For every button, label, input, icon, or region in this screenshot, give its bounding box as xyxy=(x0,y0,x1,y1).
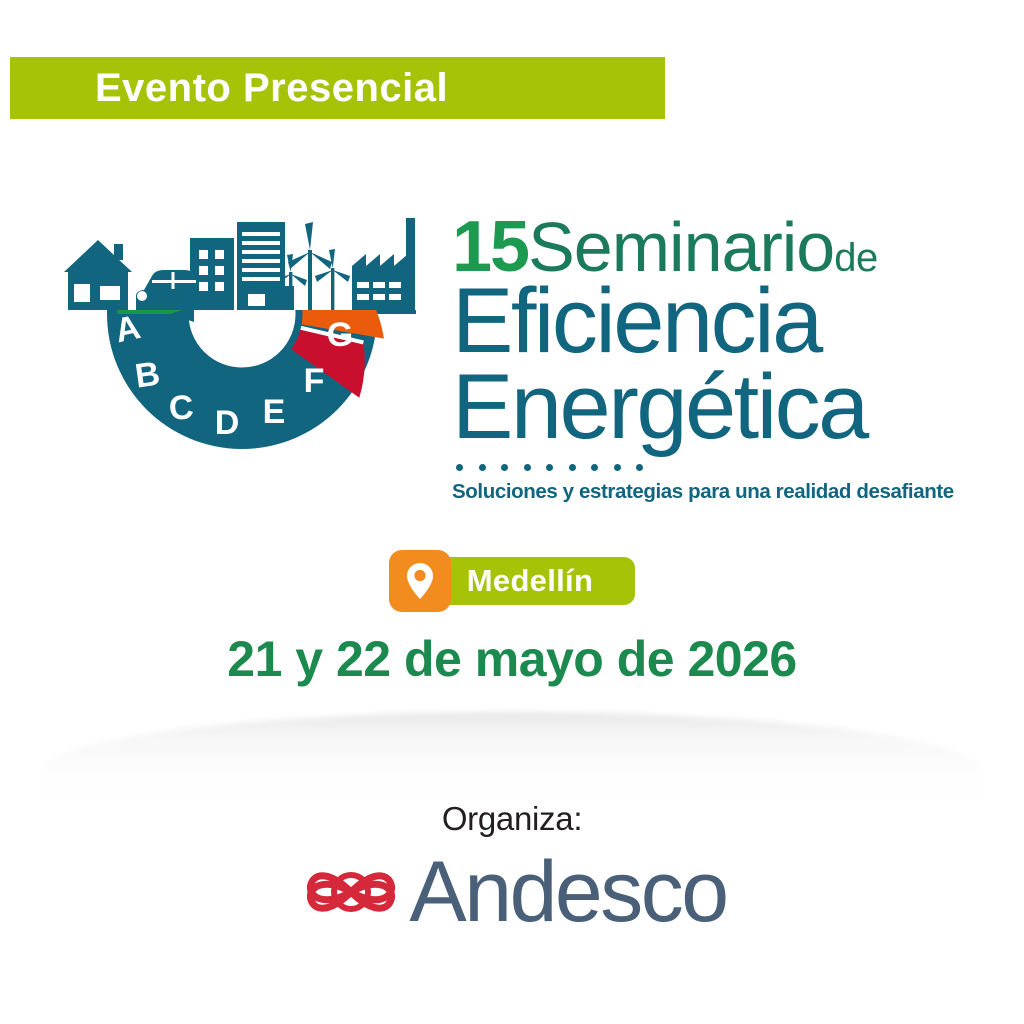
dot xyxy=(614,464,621,471)
decorative-dots xyxy=(456,464,1012,471)
dot xyxy=(591,464,598,471)
event-type-label: Evento Presencial xyxy=(95,68,448,108)
event-date-row: 21 y 22 de mayo de 2026 xyxy=(0,630,1024,688)
dot xyxy=(501,464,508,471)
dot xyxy=(569,464,576,471)
energy-efficiency-gauge: A B C D E F G xyxy=(52,210,432,500)
dot xyxy=(546,464,553,471)
map-pin-icon xyxy=(405,562,435,600)
andesco-knot-logo xyxy=(297,842,405,942)
section-divider-shadow xyxy=(40,712,984,807)
sponsor-logo-row: Andesco xyxy=(0,842,1024,942)
svg-text:E: E xyxy=(263,393,286,431)
svg-text:G: G xyxy=(327,316,353,354)
dot xyxy=(456,464,463,471)
svg-text:F: F xyxy=(304,362,325,400)
sponsor-name: Andesco xyxy=(409,849,726,935)
event-date-label: 21 y 22 de mayo de 2026 xyxy=(227,631,796,687)
dot xyxy=(479,464,486,471)
dot xyxy=(636,464,643,471)
event-poster: Evento Presencial xyxy=(0,0,1024,1024)
svg-text:B: B xyxy=(133,355,163,396)
event-type-banner: Evento Presencial xyxy=(10,57,665,119)
location-badge: Medellín xyxy=(0,550,1024,612)
svg-text:D: D xyxy=(215,404,240,442)
organizer-label-row: Organiza: xyxy=(0,800,1024,838)
seminar-logo-block: A B C D E F G 15Seminariode Eficiencia E… xyxy=(0,205,1024,525)
seminar-tagline: Soluciones y estrategias para una realid… xyxy=(452,480,1012,504)
location-city-label: Medellín xyxy=(467,563,593,599)
svg-text:C: C xyxy=(168,388,195,428)
organiza-label: Organiza: xyxy=(442,800,582,837)
de-word: de xyxy=(834,236,878,280)
title-line-2: Energética xyxy=(452,365,1012,451)
dot xyxy=(524,464,531,471)
title-line-1: Eficiencia xyxy=(452,279,1012,365)
map-pin-icon-box xyxy=(389,550,451,612)
seminar-wordmark: 15Seminariode Eficiencia Energética Solu… xyxy=(452,213,1012,504)
